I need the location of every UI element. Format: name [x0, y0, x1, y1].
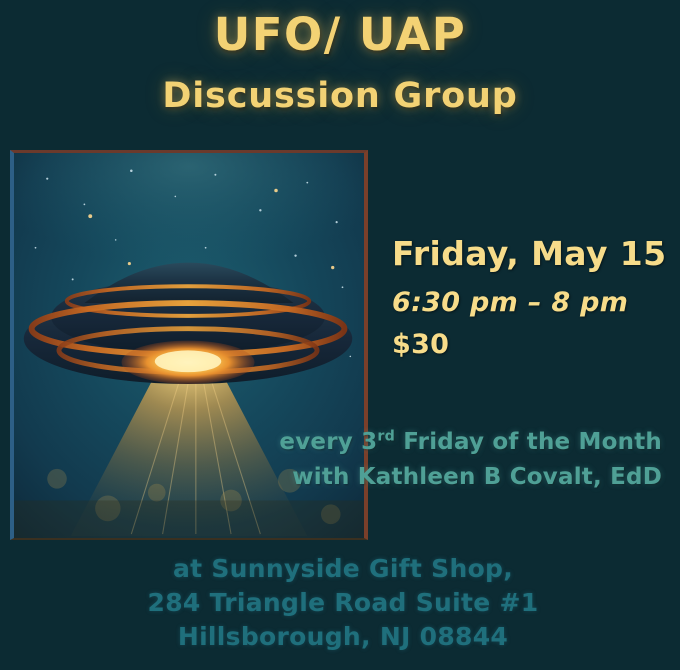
recurrence-suffix: Friday of the Month	[395, 429, 662, 455]
recurrence-prefix: every	[279, 429, 361, 455]
recurrence-schedule: every 3rd Friday of the Month	[0, 430, 662, 456]
recurrence-ordinal-suffix: rd	[377, 428, 395, 444]
venue-name: at Sunnyside Gift Shop,	[6, 552, 680, 586]
facilitator-name: with Kathleen B Covalt, EdD	[0, 465, 662, 491]
event-details-block: Friday, May 15 6:30 pm – 8 pm $30	[392, 236, 680, 360]
event-time: 6:30 pm – 8 pm	[392, 287, 680, 318]
event-price: $30	[392, 329, 680, 360]
flyer-canvas: UFO/ UAP Discussion Group	[0, 0, 680, 670]
event-date: Friday, May 15	[392, 236, 680, 273]
recurrence-block: every 3rd Friday of the Month with Kathl…	[0, 430, 680, 491]
city-state-zip: Hillsborough, NJ 08844	[6, 620, 680, 654]
title-block: UFO/ UAP Discussion Group	[0, 8, 680, 117]
address-block: at Sunnyside Gift Shop, 284 Triangle Roa…	[0, 552, 680, 654]
recurrence-ordinal-number: 3	[361, 429, 377, 455]
street-address: 284 Triangle Road Suite #1	[6, 586, 680, 620]
page-title: UFO/ UAP	[0, 8, 680, 61]
page-subtitle: Discussion Group	[0, 75, 680, 117]
